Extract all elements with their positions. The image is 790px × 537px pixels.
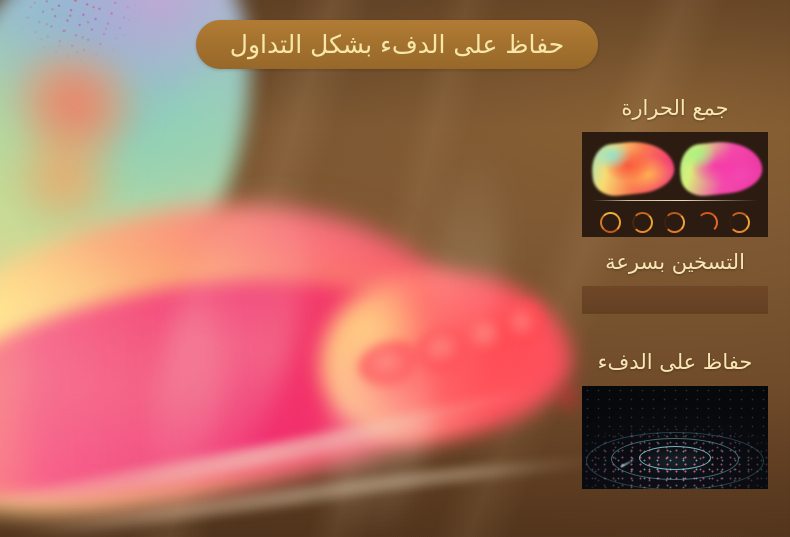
fast-heating-bar	[582, 286, 768, 314]
headline-text: حفاظ على الدفء بشكل التداول	[230, 32, 564, 57]
loading-spinner-icon	[664, 212, 685, 233]
thermal-foot-pair	[582, 136, 768, 198]
loading-spinner-icon	[600, 212, 621, 233]
thermal-foot-warm	[590, 138, 677, 198]
panel-keep-warm-label: حفاظ على الدفء	[582, 352, 768, 373]
thermal-foot-artwork	[0, 0, 610, 537]
promotional-image: حفاظ على الدفء بشكل التداول جمع الحرارة …	[0, 0, 790, 537]
thermal-foot-cool	[678, 138, 765, 198]
panel-heat-gathering-label: جمع الحرارة	[582, 98, 768, 119]
loading-spinner-icon	[697, 212, 718, 233]
keep-warm-particle-image	[582, 386, 768, 489]
colored-particles	[582, 426, 768, 489]
panel-fast-heating-label: التسخين بسرعة	[582, 252, 768, 273]
loading-spinner-row	[582, 208, 768, 236]
thermal-foot-pair-image	[582, 132, 768, 237]
thermal-foot-shape	[0, 0, 610, 537]
panel-heat-gathering: جمع الحرارة	[582, 98, 768, 237]
headline-banner: حفاظ على الدفء بشكل التداول	[196, 20, 598, 69]
panel-fast-heating: التسخين بسرعة	[582, 252, 768, 314]
horizontal-divider	[592, 200, 758, 201]
loading-spinner-icon	[729, 212, 750, 233]
panel-keep-warm: حفاظ على الدفء	[582, 352, 768, 489]
loading-spinner-icon	[632, 212, 653, 233]
